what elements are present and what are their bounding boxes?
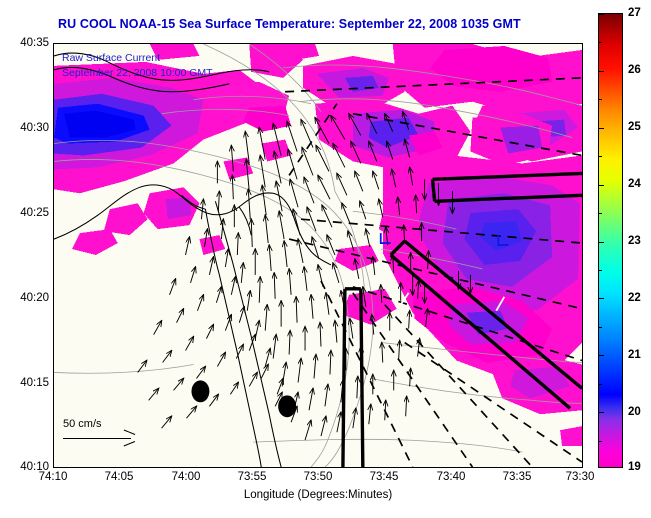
map-overlay-layer [54, 44, 582, 467]
x-axis-label: Longitude (Degrees:Minutes) [53, 489, 583, 501]
station-marker [278, 395, 296, 417]
figure-title: RU COOL NOAA-15 Sea Surface Temperature:… [58, 17, 588, 31]
y-tick-label: 40:20 [3, 292, 49, 304]
x-tick-label: 73:35 [503, 471, 532, 483]
colorbar-tick-label: 24 [628, 178, 641, 190]
station-marker [191, 380, 209, 402]
x-tick-label: 74:05 [105, 471, 134, 483]
x-tick-label: 73:50 [304, 471, 333, 483]
x-tick-label: 73:55 [238, 471, 267, 483]
colorbar-tick-label: 23 [628, 235, 641, 247]
colorbar-tick-label: 21 [628, 349, 641, 361]
velocity-scale-bar: 50 cm/s [63, 418, 135, 443]
y-tick-label: 40:30 [3, 122, 49, 134]
x-tick-label: 73:40 [437, 471, 466, 483]
colorbar-tick-label: 20 [628, 406, 641, 418]
x-tick-label: 73:45 [370, 471, 399, 483]
colorbar-tick-label: 25 [628, 121, 641, 133]
annotation-line-2: September 22, 2008 10:00 GMT [62, 66, 213, 81]
annotation-line-1: Raw Surface Current [62, 51, 213, 66]
colorbar-tick-label: 19 [628, 461, 641, 473]
sst-map-figure: RU COOL NOAA-15 Sea Surface Temperature:… [0, 0, 651, 518]
velocity-scale-arrow-icon [63, 433, 135, 443]
x-tick-label: 74:00 [172, 471, 201, 483]
y-tick-label: 40:25 [3, 207, 49, 219]
velocity-scale-label: 50 cm/s [63, 418, 135, 430]
y-tick-label: 40:10 [3, 461, 49, 473]
current-annotation: Raw Surface Current September 22, 2008 1… [62, 51, 213, 81]
colorbar-tick-label: 26 [628, 64, 641, 76]
x-tick-label: 73:30 [566, 471, 595, 483]
map-plot-area[interactable]: Raw Surface Current September 22, 2008 1… [53, 43, 583, 468]
colorbar-tick-label: 22 [628, 292, 641, 304]
colorbar-tick-label: 27 [628, 7, 641, 19]
y-tick-label: 40:15 [3, 377, 49, 389]
y-tick-label: 40:35 [3, 37, 49, 49]
temperature-colorbar[interactable] [598, 13, 623, 468]
